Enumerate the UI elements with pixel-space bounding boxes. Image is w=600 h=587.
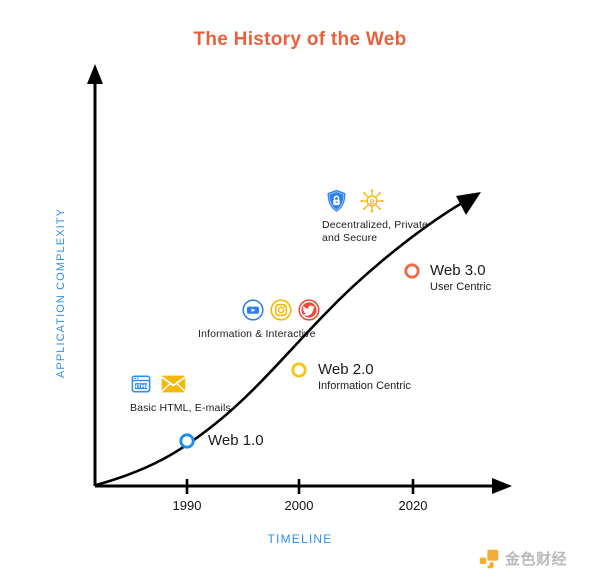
svg-text:HTML: HTML: [134, 384, 149, 390]
x-axis-arrowhead: [492, 478, 512, 494]
milestone-web-1[interactable]: Web 1.0: [208, 432, 264, 449]
milestone-web-3[interactable]: Web 3.0 User Centric: [430, 262, 491, 294]
milestone-web-1-title: Web 1.0: [208, 432, 264, 449]
youtube-icon: [242, 299, 264, 321]
annotation-web-3: ₿ Decentralized, Private and Secure: [322, 188, 428, 245]
annotation-web-1-icons: HTML: [130, 371, 231, 397]
x-tick-label-1990: 1990: [157, 498, 217, 513]
y-axis-arrowhead: [87, 64, 103, 84]
annotation-web-2-caption: Information & Interactive: [198, 328, 320, 341]
milestone-web-2-title: Web 2.0: [318, 361, 411, 378]
infographic-canvas: The History of the Web APPLICATION COMPL…: [0, 0, 600, 587]
annotation-web-1: HTML Basic HTML, E-mails: [130, 371, 231, 415]
envelope-icon: [161, 373, 186, 395]
growth-curve: [96, 203, 462, 485]
x-tick-label-2020: 2020: [383, 498, 443, 513]
marker-web-2[interactable]: [293, 364, 305, 376]
marker-web-1[interactable]: [181, 435, 193, 447]
milestone-web-3-title: Web 3.0: [430, 262, 491, 279]
svg-text:₿: ₿: [369, 198, 375, 206]
shield-lock-icon: [326, 189, 347, 213]
annotation-web-2: Information & Interactive: [198, 297, 320, 341]
watermark-text: 金色财经: [505, 548, 567, 569]
x-axis-title: TIMELINE: [195, 532, 405, 546]
annotation-web-1-caption: Basic HTML, E-mails: [130, 402, 231, 415]
twitter-icon: [298, 299, 320, 321]
x-tick-label-2000: 2000: [269, 498, 329, 513]
network-node-icon: ₿: [360, 189, 384, 213]
milestone-web-2-subtitle: Information Centric: [318, 379, 411, 393]
milestone-web-3-subtitle: User Centric: [430, 280, 491, 294]
marker-web-3[interactable]: [406, 265, 418, 277]
annotation-web-3-caption: Decentralized, Private and Secure: [322, 219, 428, 245]
instagram-icon: [270, 299, 292, 321]
annotation-web-3-icons: ₿: [322, 188, 428, 214]
y-axis-title: APPLICATION COMPLEXITY: [55, 193, 67, 393]
watermark-logo-icon: [479, 549, 499, 569]
watermark: 金色财经: [479, 548, 567, 569]
annotation-web-2-icons: [198, 297, 320, 323]
milestone-web-2[interactable]: Web 2.0 Information Centric: [318, 361, 411, 393]
html-window-icon: HTML: [130, 373, 152, 395]
